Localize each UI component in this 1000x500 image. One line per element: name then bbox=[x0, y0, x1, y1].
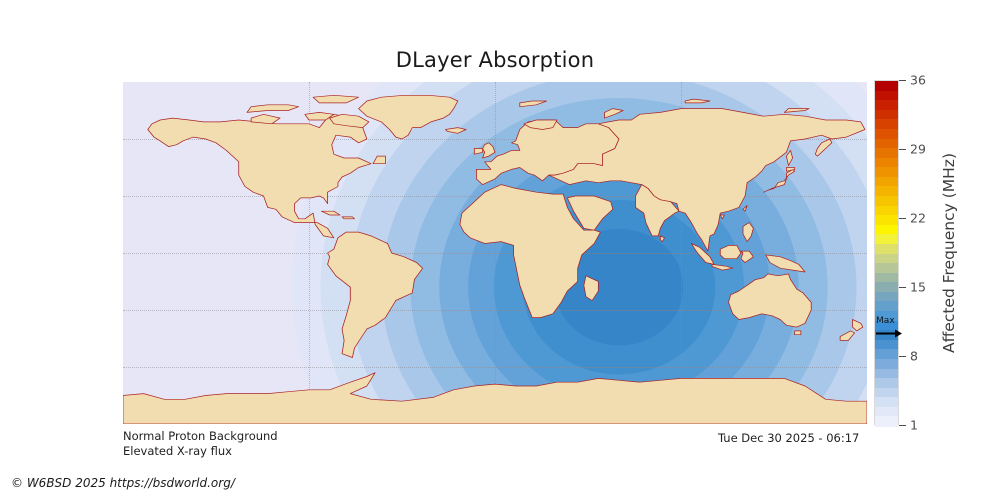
landmass-java bbox=[712, 264, 733, 270]
landmass-victoria-island bbox=[251, 114, 280, 124]
copyright-notice: © W6BSD 2025 https://bsdworld.org/ bbox=[11, 476, 235, 490]
page-title: DLayer Absorption bbox=[0, 48, 990, 72]
colorbar-tick-label: 22 bbox=[910, 211, 926, 226]
landmass-japan bbox=[764, 169, 795, 192]
colorbar-max-marker: Max bbox=[876, 317, 904, 343]
max-arrow-icon bbox=[876, 329, 902, 338]
colorbar-segment bbox=[875, 416, 898, 426]
colorbar-tick bbox=[899, 149, 906, 150]
map-axes[interactable] bbox=[123, 82, 867, 424]
landmass-madagascar bbox=[584, 276, 598, 301]
colorbar[interactable]: 3629221581 bbox=[874, 80, 899, 425]
colorbar-tick bbox=[899, 425, 906, 426]
landmass-hainan bbox=[720, 215, 724, 219]
landmass-canada-arctic-1 bbox=[247, 105, 299, 113]
note-proton-background: Normal Proton Background bbox=[123, 429, 278, 444]
landmass-south-america bbox=[328, 232, 423, 357]
landmass-kamchatka bbox=[815, 139, 832, 156]
note-xray-flux: Elevated X-ray flux bbox=[123, 444, 278, 459]
landmass-newfoundland bbox=[373, 156, 385, 164]
landmass-taiwan bbox=[743, 206, 747, 212]
landmass-ellesmere bbox=[313, 95, 358, 103]
landmass-philippines bbox=[743, 223, 753, 242]
landmass-tasmania bbox=[795, 331, 801, 335]
landmass-new-guinea bbox=[766, 255, 805, 272]
colorbar-gradient bbox=[874, 80, 899, 425]
colorbar-tick-label: 29 bbox=[910, 142, 926, 157]
landmass-new-zealand-n bbox=[853, 320, 863, 331]
landmass-svalbard bbox=[520, 101, 547, 107]
landmass-cuba bbox=[321, 211, 340, 215]
landmass-new-zealand-s bbox=[840, 331, 854, 341]
max-marker-label: Max bbox=[876, 317, 904, 326]
landmass-sulawesi bbox=[741, 251, 753, 262]
colorbar-axis-label: Affected Frequency (MHz) bbox=[938, 80, 960, 425]
colorbar-tick bbox=[899, 356, 906, 357]
landmass-hispaniola bbox=[342, 217, 354, 219]
world-coastlines bbox=[123, 82, 867, 424]
landmass-north-america bbox=[148, 114, 371, 238]
colorbar-axis-label-text: Affected Frequency (MHz) bbox=[940, 153, 958, 353]
colorbar-tick bbox=[899, 218, 906, 219]
landmass-sumatra bbox=[691, 244, 714, 265]
figure-canvas: DLayer Absorption 3629221581 Max Affecte… bbox=[0, 0, 1000, 500]
landmass-sri-lanka bbox=[660, 236, 664, 242]
landmass-antarctica bbox=[123, 373, 867, 424]
landmass-severnaya bbox=[685, 99, 710, 103]
colorbar-tick-label: 1 bbox=[910, 418, 918, 433]
landmass-novaya-zemlya bbox=[605, 109, 624, 119]
landmass-british-isles bbox=[483, 143, 495, 158]
colorbar-tick bbox=[899, 287, 906, 288]
colorbar-tick-label: 15 bbox=[910, 280, 926, 295]
landmass-iceland bbox=[445, 128, 466, 134]
landmass-australia bbox=[729, 274, 812, 327]
landmass-borneo bbox=[720, 245, 741, 258]
colorbar-tick bbox=[899, 80, 906, 81]
status-notes: Normal Proton Background Elevated X-ray … bbox=[123, 429, 278, 459]
landmass-sakhalin bbox=[786, 150, 792, 165]
landmass-greenland bbox=[359, 95, 458, 139]
colorbar-tick-label: 36 bbox=[910, 73, 926, 88]
timestamp: Tue Dec 30 2025 - 06:17 bbox=[718, 431, 859, 445]
landmass-new-siberian bbox=[784, 109, 809, 113]
colorbar-tick-label: 8 bbox=[910, 349, 918, 364]
landmass-ireland bbox=[474, 149, 482, 155]
